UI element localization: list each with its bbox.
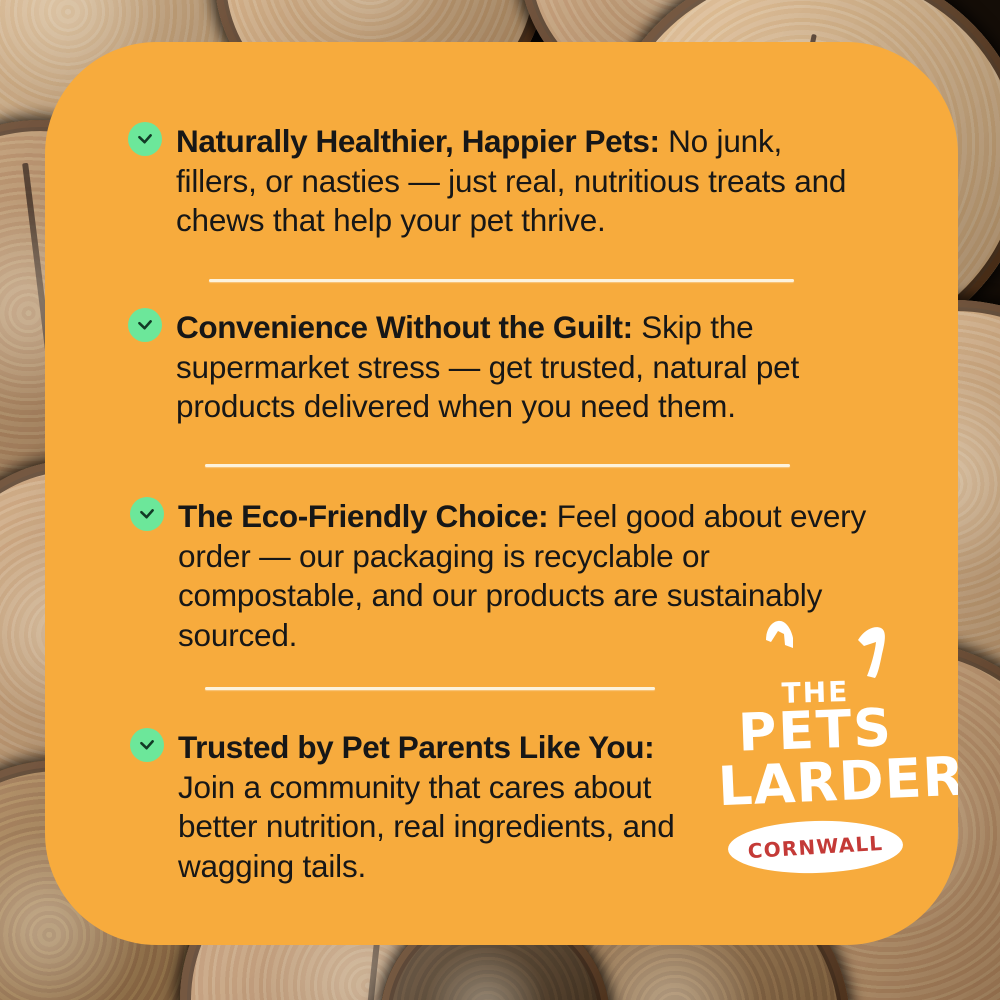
check-circle-icon [130, 497, 164, 531]
divider [205, 687, 655, 690]
benefit-text: Trusted by Pet Parents Like You: Join a … [178, 728, 685, 886]
benefit-heading: Naturally Healthier, Happier Pets: [176, 123, 660, 159]
cornwall-badge: CORNWALL [727, 819, 903, 876]
divider [209, 279, 794, 282]
brand-logo: THE PETS LARDER CORNWALL [718, 618, 913, 883]
benefit-item: Convenience Without the Guilt: Skip the … [128, 308, 878, 427]
benefit-body: Join a community that cares about better… [178, 769, 675, 884]
benefit-item: Naturally Healthier, Happier Pets: No ju… [128, 122, 863, 241]
benefit-text: Convenience Without the Guilt: Skip the … [176, 308, 878, 427]
check-circle-icon [128, 122, 162, 156]
cornwall-badge-label: CORNWALL [727, 816, 905, 879]
divider [205, 464, 790, 467]
check-circle-icon [130, 728, 164, 762]
check-circle-icon [128, 308, 162, 342]
benefit-heading: Convenience Without the Guilt: [176, 309, 633, 345]
benefit-heading: The Eco-Friendly Choice: [178, 498, 548, 534]
benefit-heading: Trusted by Pet Parents Like You: [178, 729, 654, 765]
logo-line-larder: LARDER [717, 747, 915, 818]
benefits-card: Naturally Healthier, Happier Pets: No ju… [45, 42, 958, 945]
dog-ear-left-icon [758, 618, 806, 670]
benefit-item: Trusted by Pet Parents Like You: Join a … [130, 728, 685, 886]
benefit-text: Naturally Healthier, Happier Pets: No ju… [176, 122, 863, 241]
